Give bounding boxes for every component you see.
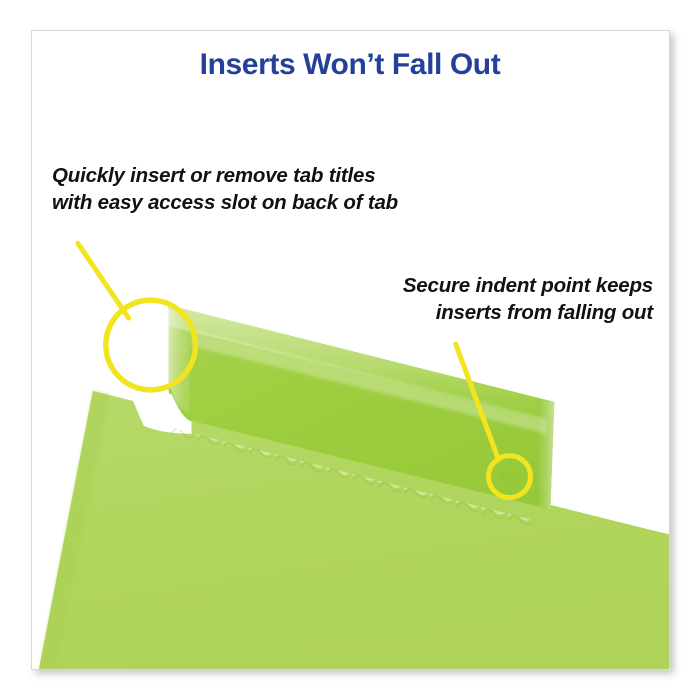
callout-label-indent-point: Secure indent point keeps inserts from f… (403, 272, 653, 327)
callout-label-access-slot-line1: Quickly insert or remove tab titles (52, 162, 398, 189)
product-photo (32, 31, 669, 669)
page-title: Inserts Won’t Fall Out (0, 48, 700, 82)
callout-label-indent-point-line1: Secure indent point keeps (403, 272, 653, 299)
product-feature-image: Inserts Won’t Fall Out Quickly insert or… (0, 0, 700, 700)
product-photo-card (31, 30, 670, 670)
callout-label-indent-point-line2: inserts from falling out (403, 299, 653, 326)
callout-label-access-slot-line2: with easy access slot on back of tab (52, 189, 398, 216)
indent-point (501, 471, 519, 483)
callout-label-access-slot: Quickly insert or remove tab titles with… (52, 162, 398, 217)
